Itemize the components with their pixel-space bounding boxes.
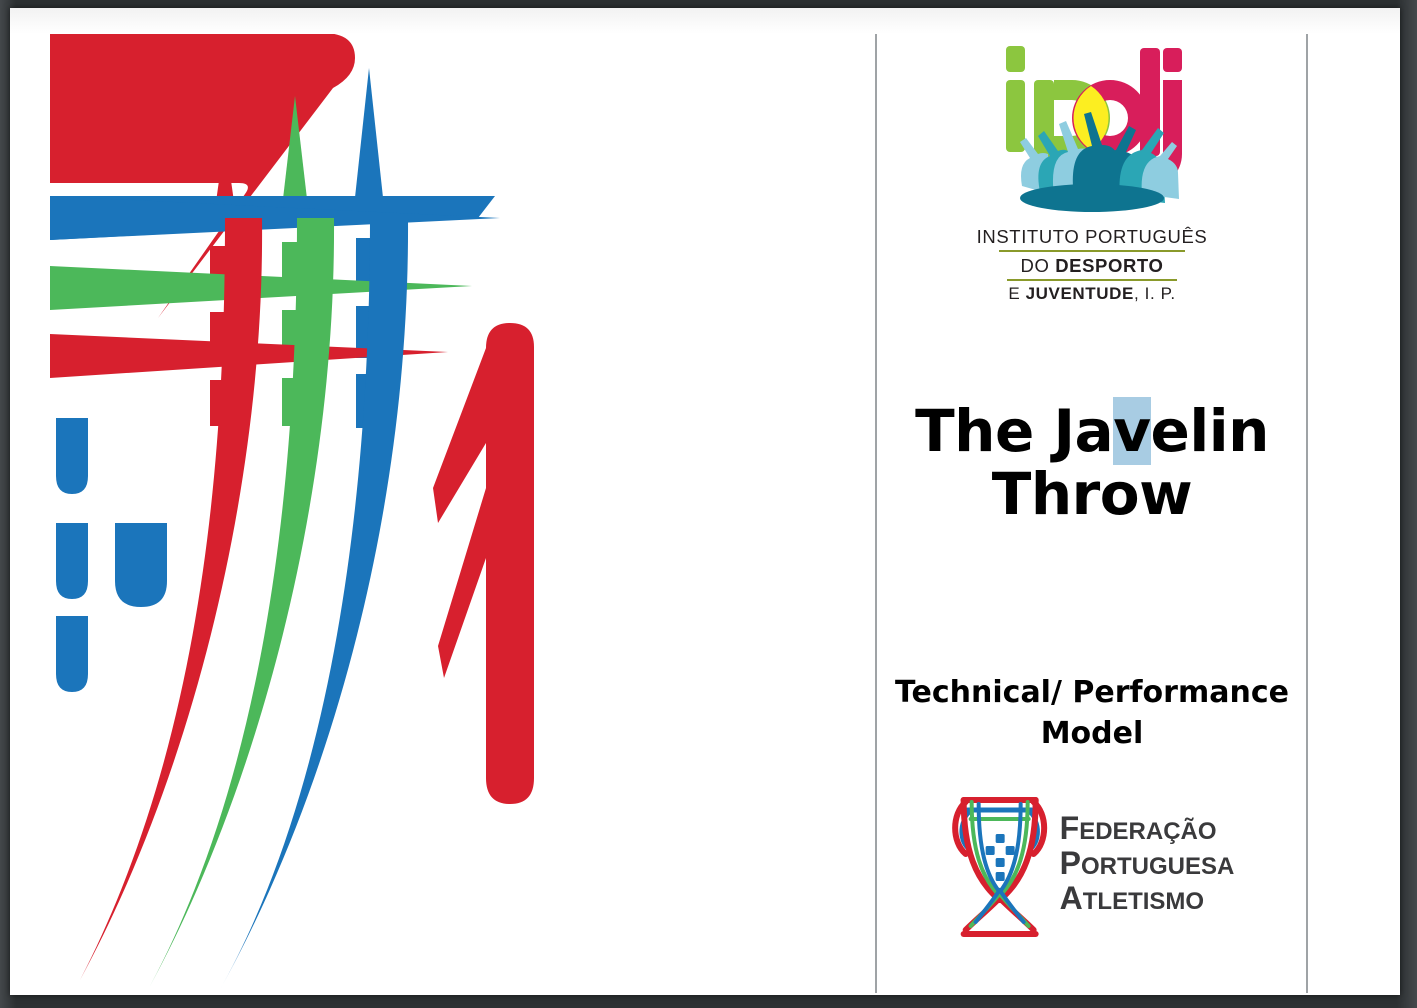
page-title-segment-pre: The Ja [915, 397, 1113, 465]
ipdj-line-3: E JUVENTUDE, I. P. [976, 284, 1208, 304]
fpa-word-federacao: FEDERAÇÃO [1060, 812, 1235, 844]
page-subtitle-line-2: Model [878, 714, 1306, 755]
fpa-word-atletismo-rest: TLETISMO [1083, 888, 1204, 915]
ipdj-line-2-bold: DESPORTO [1055, 255, 1163, 276]
document-page: INSTITUTO PORTUGUÊS DO DESPORTO E JUVENT… [10, 8, 1400, 995]
ipdj-line-3-light-a: E [1008, 284, 1025, 303]
pdf-viewer: INSTITUTO PORTUGUÊS DO DESPORTO E JUVENT… [0, 0, 1417, 1008]
page-subtitle: Technical/ Performance Model [878, 673, 1306, 754]
fpa-word-federacao-rest: EDERAÇÃO [1079, 818, 1216, 845]
page-subtitle-line-1: Technical/ Performance [878, 673, 1306, 714]
text-selection-highlight[interactable]: v [1113, 397, 1150, 465]
artwork-shapes [50, 33, 534, 993]
ipdj-line-3-bold: JUVENTUDE [1026, 284, 1134, 303]
ipdj-logo: INSTITUTO PORTUGUÊS DO DESPORTO E JUVENT… [976, 36, 1208, 304]
page-title: The Javelin Throw [878, 400, 1306, 525]
column-divider-right [1306, 28, 1308, 993]
cover-right-column: INSTITUTO PORTUGUÊS DO DESPORTO E JUVENT… [878, 28, 1306, 993]
fpa-word-atletismo: ATLETISMO [1060, 882, 1235, 914]
fpa-word-portuguesa-cap: P [1060, 845, 1081, 881]
page-title-line-1: The Javelin [878, 400, 1306, 463]
ipdj-line-2: DO DESPORTO [976, 255, 1208, 277]
ipdj-line-1: INSTITUTO PORTUGUÊS [976, 226, 1208, 248]
fpa-cup-icon [950, 788, 1050, 940]
ipdj-wordmark-icon [992, 36, 1192, 226]
fpa-word-federacao-cap: F [1060, 810, 1080, 846]
fpa-word-portuguesa-rest: ORTUGUESA [1081, 853, 1234, 880]
ipdj-line-2-light: DO [1021, 255, 1056, 276]
ipdj-rule-2 [1007, 279, 1177, 281]
ipdj-rule-1 [999, 250, 1185, 252]
fpa-logo: FEDERAÇÃO PORTUGUESA ATLETISMO [950, 788, 1235, 940]
fpa-word-atletismo-cap: A [1060, 880, 1083, 916]
fpa-word-portuguesa: PORTUGUESA [1060, 847, 1235, 879]
page-title-line-2: Throw [878, 463, 1306, 526]
ipdj-line-3-light-b: , I. P. [1134, 284, 1176, 303]
column-divider-left [875, 28, 877, 993]
cover-artwork-portugal-flag-graphic [40, 18, 560, 993]
fpa-wordmark: FEDERAÇÃO PORTUGUESA ATLETISMO [1060, 812, 1235, 917]
page-title-segment-post: elin [1151, 397, 1269, 465]
